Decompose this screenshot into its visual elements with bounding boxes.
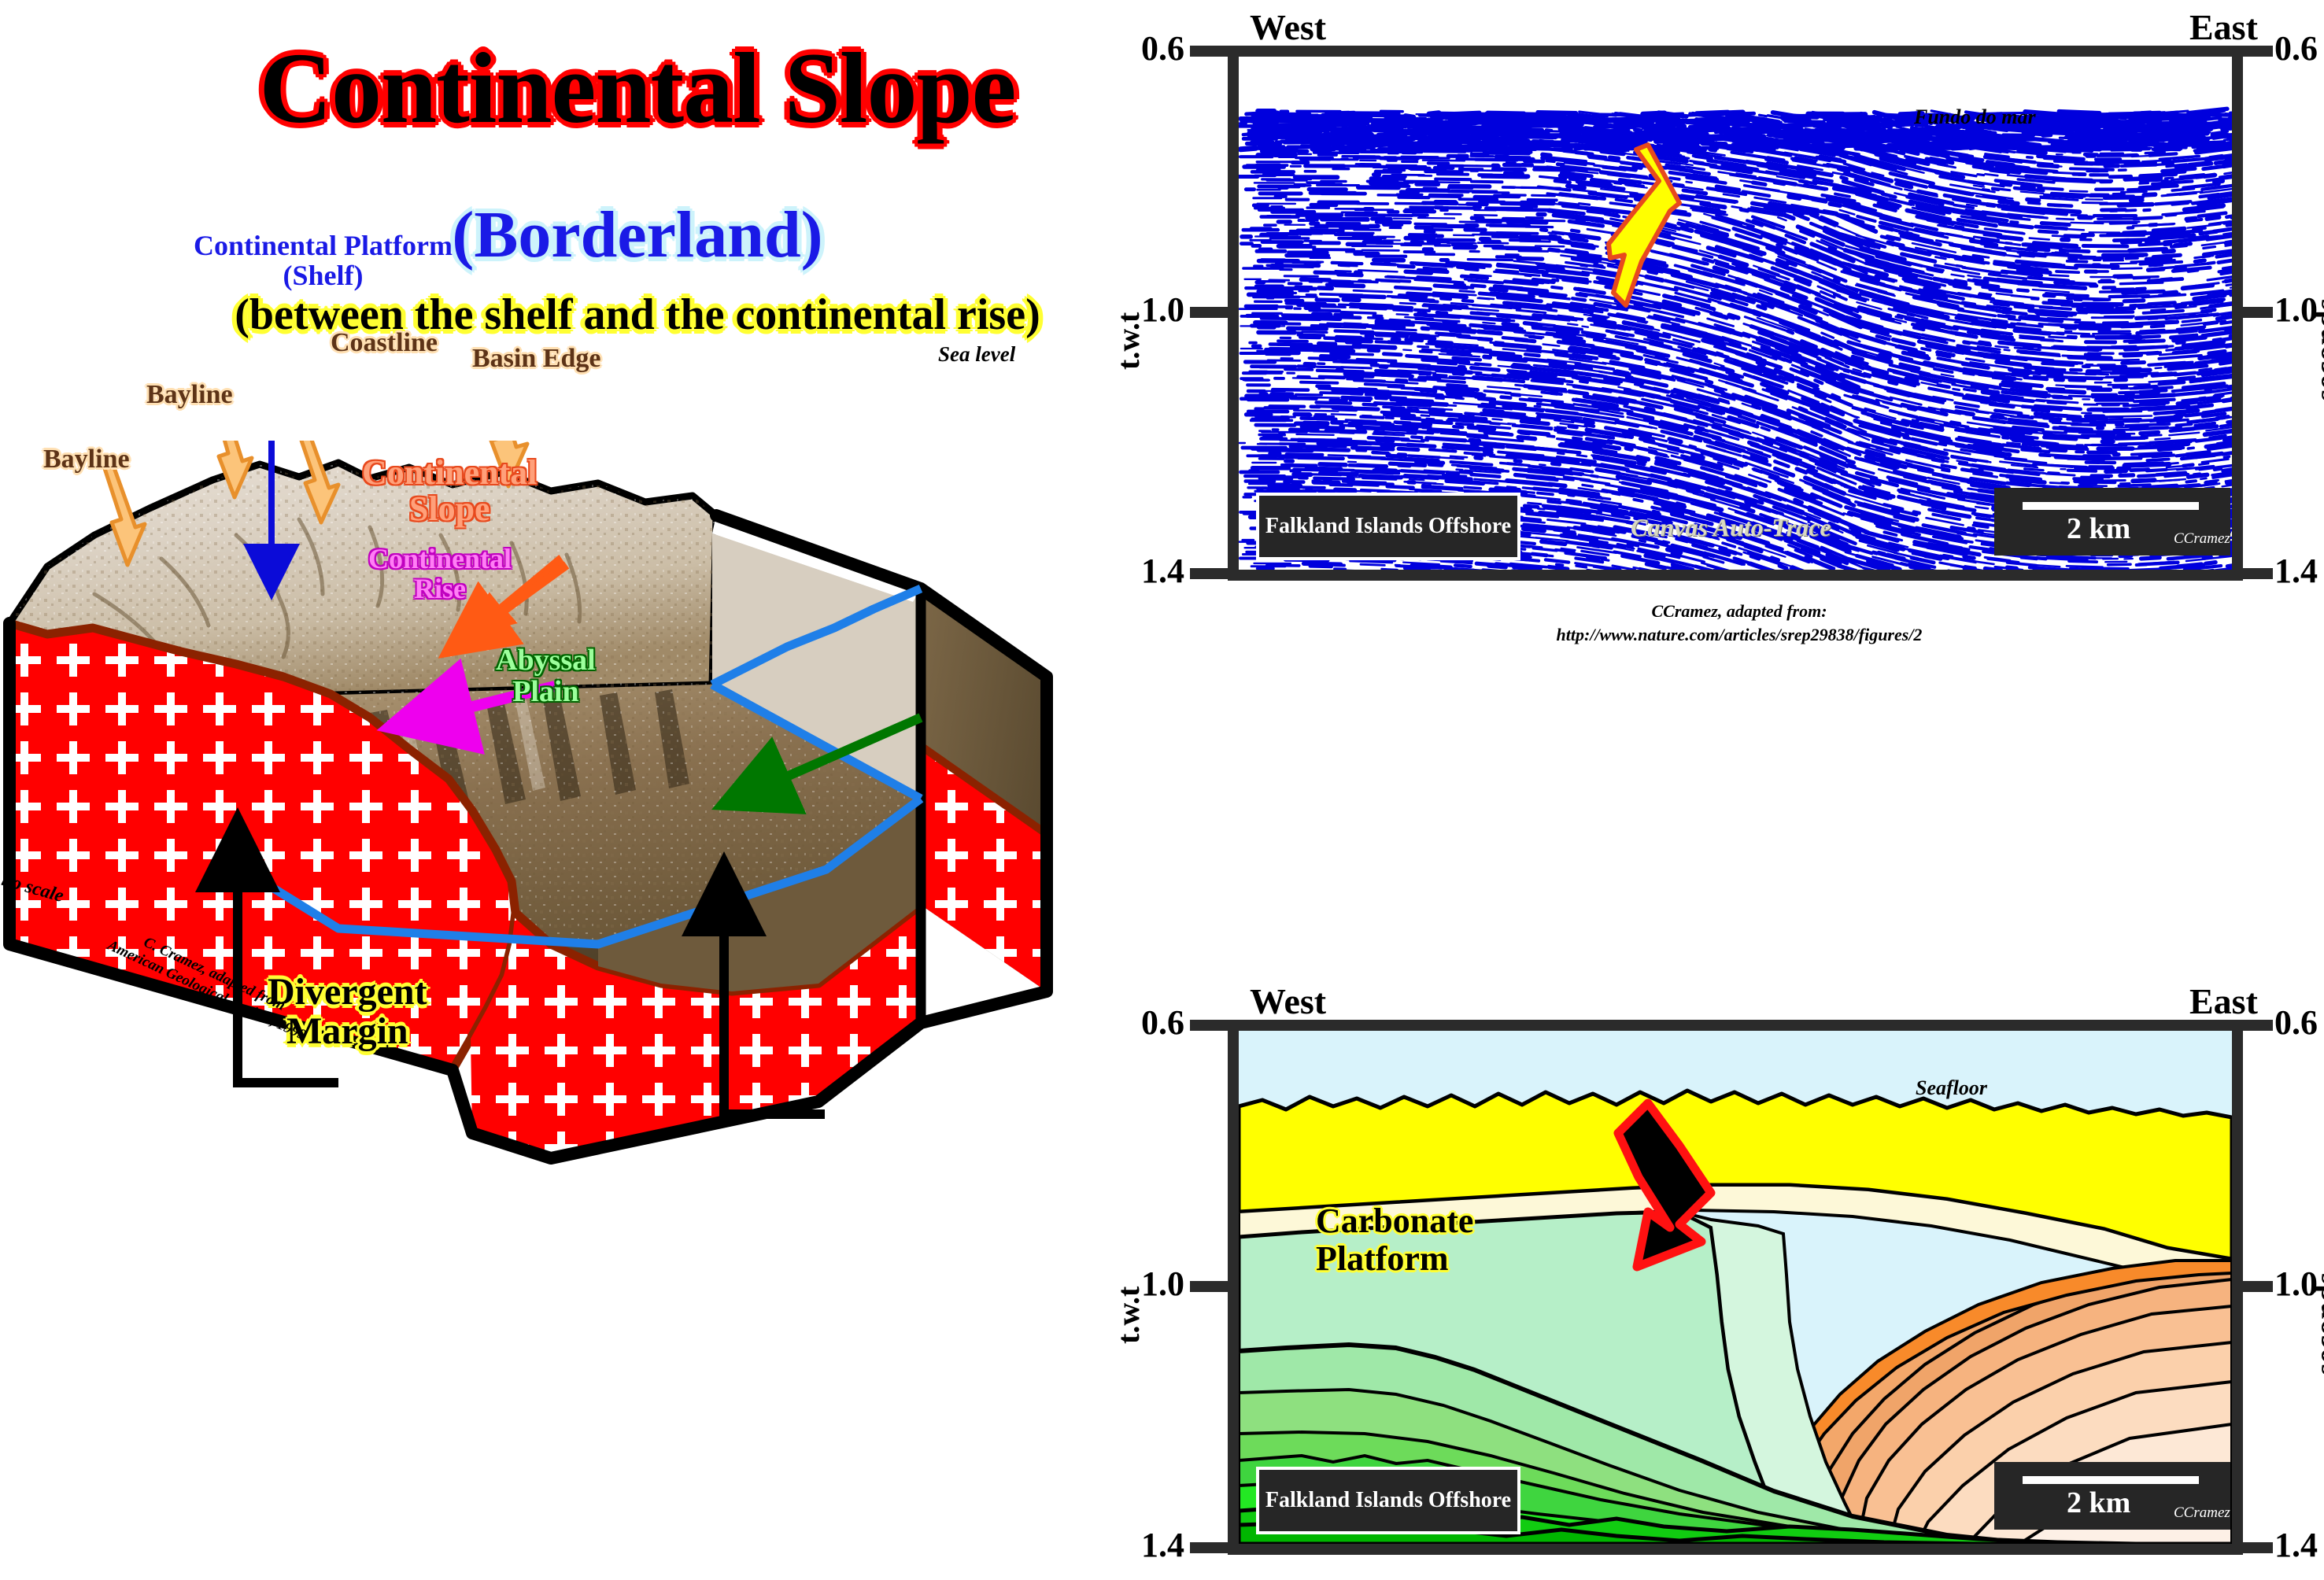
label-continental-slope-line2: Slope (409, 489, 490, 528)
seismic-source-line1: CCramez, adapted from: (1651, 601, 1827, 621)
interpreted-axis-label-twt: t.w.t (1110, 1287, 1147, 1344)
seismic-source-line2: http://www.nature.com/articles/srep29838… (1557, 625, 1923, 644)
seismic-tickmark-left-0 (1190, 46, 1228, 57)
label-coastline: Coastline (331, 329, 438, 357)
seismic-axis-label-twt: t.w.t (1110, 312, 1147, 370)
seismic-direction-west: West (1250, 6, 1326, 48)
interpreted-panel: West East 0.6 1.0 1.4 0.6 1.0 1.4 t.w.t … (1228, 982, 2322, 1580)
label-continental-slope-line1: Continental (362, 453, 537, 492)
label-continental-rise-line2: Rise (414, 573, 466, 604)
label-carbonate-platform-line2: Platform (1316, 1239, 1449, 1278)
label-basin-edge: Basin Edge (472, 345, 600, 373)
interpreted-scale-box: 2 km CCramez (1994, 1462, 2230, 1530)
label-continental-slope: Continental Slope (362, 455, 537, 527)
interpreted-tick-left-1: 1.0 (1141, 1264, 1184, 1304)
seismic-axis-label-seconds: seconds (2307, 298, 2324, 401)
label-continental-platform: Continental Platform (Shelf) (194, 231, 453, 291)
label-bayline-lower: Bayline (43, 445, 130, 474)
interpreted-tickmark-left-0 (1190, 1020, 1228, 1031)
interpreted-seafloor-annotation: Seafloor (1916, 1076, 1987, 1100)
interpreted-scale-bar (2023, 1476, 2199, 1484)
seismic-watermark: Canvas Auto-Trace (1631, 513, 1831, 542)
label-continental-platform-line2: (Shelf) (283, 260, 363, 291)
seismic-tickmark-left-1 (1190, 307, 1228, 318)
label-continental-rise: Continental Rise (368, 545, 512, 604)
interpreted-frame: Seafloor Carbonate Platform Falkland Isl… (1228, 1020, 2243, 1555)
seismic-tickmark-left-2 (1190, 568, 1228, 579)
interpreted-axis-label-seconds: seconds (2307, 1272, 2324, 1375)
label-continental-platform-line1: Continental Platform (194, 230, 453, 261)
seismic-scale-bar (2023, 502, 2199, 510)
seismic-source-note: CCramez, adapted from: http://www.nature… (1393, 600, 2086, 646)
interpreted-tickmark-left-1 (1190, 1281, 1228, 1292)
interpreted-tickmark-left-2 (1190, 1542, 1228, 1553)
seismic-scale-label: 2 km (2067, 511, 2130, 546)
label-carbonate-platform: Carbonate Platform (1316, 1202, 1473, 1277)
seismic-tick-right-2: 1.4 (2274, 551, 2318, 591)
interpreted-tick-right-0: 0.6 (2274, 1002, 2318, 1043)
interpreted-tick-left-2: 1.4 (1141, 1525, 1184, 1565)
block-right-face (921, 589, 1047, 991)
seismic-scale-box: 2 km CCramez (1994, 488, 2230, 556)
seismic-tick-right-0: 0.6 (2274, 28, 2318, 68)
interpreted-scale-label: 2 km (2067, 1486, 2130, 1520)
seismic-location-tag: Falkland Islands Offshore (1256, 493, 1520, 560)
seismic-tick-left-0: 0.6 (1141, 28, 1184, 68)
seismic-panel: West East 0.6 1.0 1.4 0.6 1.0 1.4 t.w.t … (1228, 8, 2322, 653)
label-continental-rise-line1: Continental (368, 543, 512, 574)
block-diagram-figure: Continental Platform (Shelf) Coastline B… (0, 441, 1306, 1322)
interpreted-direction-east: East (2189, 980, 2258, 1022)
page-subtitle-definition: (between the shelf and the continental r… (47, 290, 1228, 340)
seismic-frame: Fundo do mar Falkland Islands Offshore C… (1228, 46, 2243, 581)
block-diagram-svg (0, 441, 1306, 1322)
interpreted-tick-right-2: 1.4 (2274, 1525, 2318, 1565)
page-title: Continental Slope (102, 38, 1173, 138)
seismic-location-tag-text: Falkland Islands Offshore (1265, 514, 1511, 539)
label-abyssal-plain: Abyssal Plain (496, 645, 596, 708)
interpreted-direction-west: West (1250, 980, 1326, 1022)
seismic-tick-left-1: 1.0 (1141, 290, 1184, 330)
interpreted-location-tag-text: Falkland Islands Offshore (1265, 1488, 1511, 1513)
seismic-seafloor-annotation: Fundo do mar (1914, 105, 2036, 129)
interpreted-scale-credit: CCramez (2174, 1504, 2230, 1522)
label-sea-level: Sea level (938, 343, 1015, 365)
label-bayline-upper: Bayline (146, 381, 233, 409)
interpreted-location-tag: Falkland Islands Offshore (1256, 1467, 1520, 1534)
label-carbonate-platform-line1: Carbonate (1316, 1202, 1473, 1240)
seismic-scale-credit: CCramez (2174, 530, 2230, 548)
seismic-tick-left-2: 1.4 (1141, 551, 1184, 591)
interpreted-tick-left-0: 0.6 (1141, 1002, 1184, 1043)
label-abyssal-plain-line2: Plain (512, 675, 578, 708)
seismic-direction-east: East (2189, 6, 2258, 48)
label-abyssal-plain-line1: Abyssal (496, 644, 596, 677)
